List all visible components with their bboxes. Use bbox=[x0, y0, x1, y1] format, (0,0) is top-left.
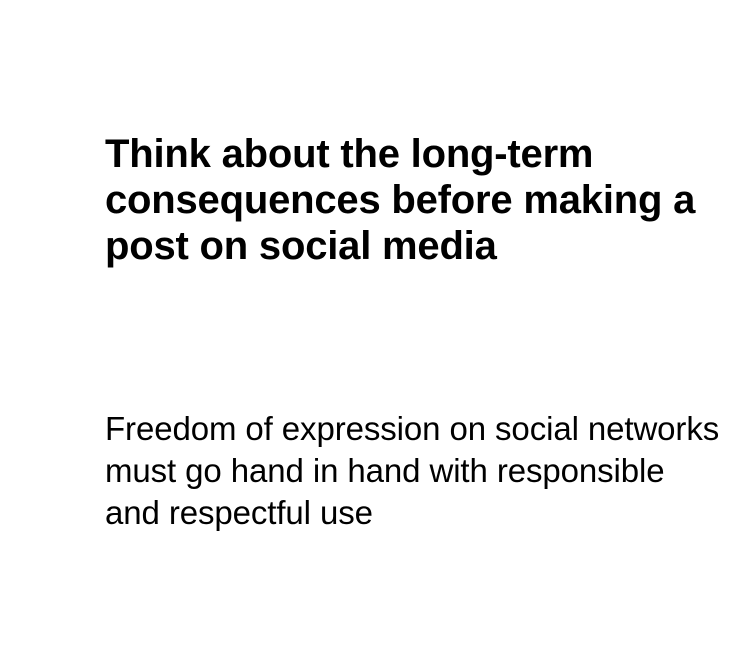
headline-title: Think about the long-term consequences b… bbox=[105, 131, 705, 269]
subhead-paragraph: Freedom of expression on social networks… bbox=[105, 408, 725, 534]
slide-canvas: Think about the long-term consequences b… bbox=[0, 0, 750, 650]
text-content-block: Think about the long-term consequences b… bbox=[105, 0, 705, 650]
